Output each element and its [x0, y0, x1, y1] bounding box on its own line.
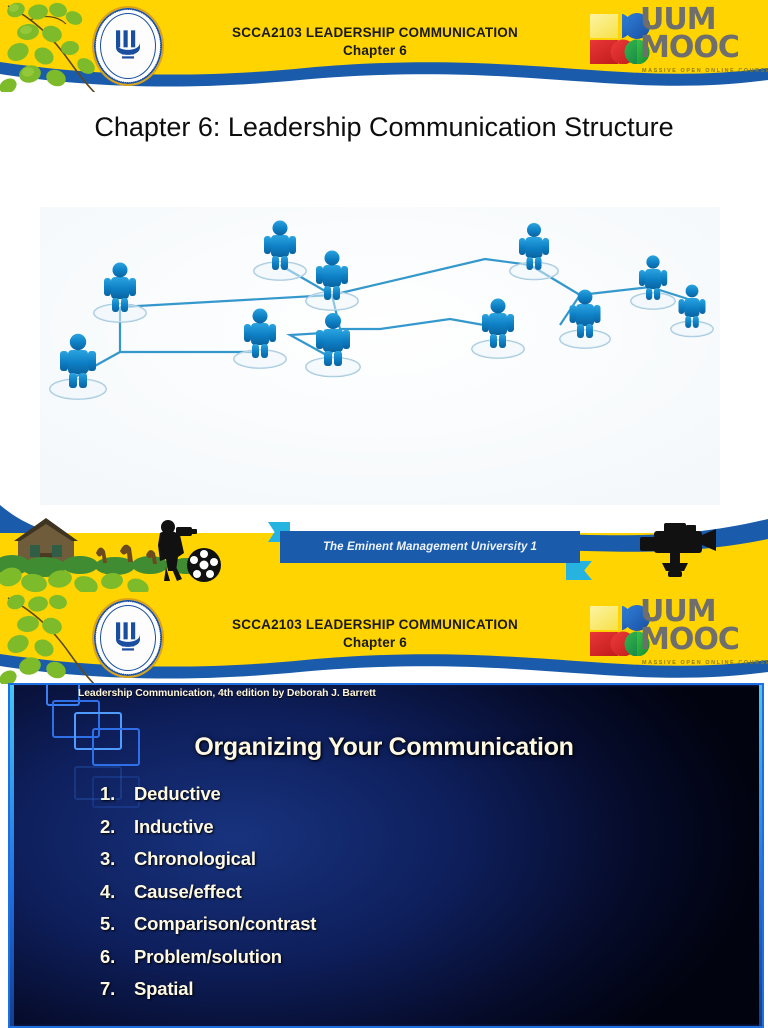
- list-item-label: Problem/solution: [134, 946, 282, 968]
- uum-emblem-glyph-2: [113, 620, 143, 654]
- list-item-label: Spatial: [134, 978, 193, 1000]
- slide-title: Organizing Your Communication: [8, 733, 760, 762]
- list-item-number: 5.: [100, 913, 134, 935]
- list-item-label: Chronological: [134, 848, 256, 870]
- page-title: Chapter 6: Leadership Communication Stru…: [48, 108, 720, 146]
- list-item-number: 6.: [100, 946, 134, 968]
- header-chapter: Chapter 6: [150, 42, 600, 60]
- network-diagram-image: [40, 207, 720, 512]
- header-course-title: SCCA2103 LEADERSHIP COMMUNICATION Chapte…: [150, 24, 600, 60]
- page-title-line1: Chapter 6: Leadership Communication: [94, 112, 556, 142]
- mooc-tagline: MASSIVE OPEN ONLINE COURSES: [642, 68, 768, 74]
- header2-course-code: SCCA2103 LEADERSHIP COMMUNICATION: [150, 616, 600, 634]
- film-reel-icon: [187, 548, 221, 582]
- page-number: 1: [531, 541, 538, 553]
- mooc-tagline-2: MASSIVE OPEN ONLINE COURSES: [642, 660, 768, 666]
- organizing-methods-list: 1. Deductive 2. Inductive 3. Chronologic…: [100, 783, 660, 1011]
- mooc-word-mooc: MOOC: [640, 34, 739, 62]
- list-item: 7. Spatial: [100, 978, 660, 1000]
- header2-course-title: SCCA2103 LEADERSHIP COMMUNICATION Chapte…: [150, 616, 600, 652]
- list-item-number: 7.: [100, 978, 134, 1000]
- list-item-label: Inductive: [134, 816, 213, 838]
- network-diagram-graphic: [40, 207, 720, 512]
- list-item: 1. Deductive: [100, 783, 660, 805]
- mooc-wordmark: UUM MOOC: [640, 6, 739, 61]
- list-item-label: Deductive: [134, 783, 221, 805]
- slide1-header: SCCA2103 LEADERSHIP COMMUNICATION Chapte…: [0, 0, 768, 92]
- uum-mooc-logo: UUM MOOC MASSIVE OPEN ONLINE COURSES: [590, 8, 760, 80]
- header2-chapter: Chapter 6: [150, 634, 600, 652]
- list-item: 3. Chronological: [100, 848, 660, 870]
- list-item-number: 1.: [100, 783, 134, 805]
- list-item-label: Cause/effect: [134, 881, 242, 903]
- list-item-number: 4.: [100, 881, 134, 903]
- slide-chapter-title: SCCA2103 LEADERSHIP COMMUNICATION Chapte…: [0, 0, 768, 592]
- list-item: 6. Problem/solution: [100, 946, 660, 968]
- list-item: 5. Comparison/contrast: [100, 913, 660, 935]
- ribbon-tagline: The Eminent Management University: [323, 541, 528, 553]
- mooc-wordmark-2: UUM MOOC: [640, 598, 739, 653]
- book-attribution: Leadership Communication, 4th edition by…: [78, 688, 376, 699]
- list-item-number: 2.: [100, 816, 134, 838]
- uum-mooc-logo-2: UUM MOOC MASSIVE OPEN ONLINE COURSES: [590, 600, 760, 672]
- list-item-number: 3.: [100, 848, 134, 870]
- list-item: 4. Cause/effect: [100, 881, 660, 903]
- list-item-label: Comparison/contrast: [134, 913, 316, 935]
- page-title-line2: Structure: [564, 112, 674, 142]
- footer-ribbon: The Eminent Management University 1: [268, 531, 592, 563]
- uum-emblem-glyph: [113, 28, 143, 62]
- ribbon-body: The Eminent Management University 1: [280, 531, 580, 563]
- mooc-word-mooc-2: MOOC: [640, 626, 739, 654]
- slide2-header: SCCA2103 LEADERSHIP COMMUNICATION Chapte…: [0, 592, 768, 684]
- header-course-code: SCCA2103 LEADERSHIP COMMUNICATION: [150, 24, 600, 42]
- list-item: 2. Inductive: [100, 816, 660, 838]
